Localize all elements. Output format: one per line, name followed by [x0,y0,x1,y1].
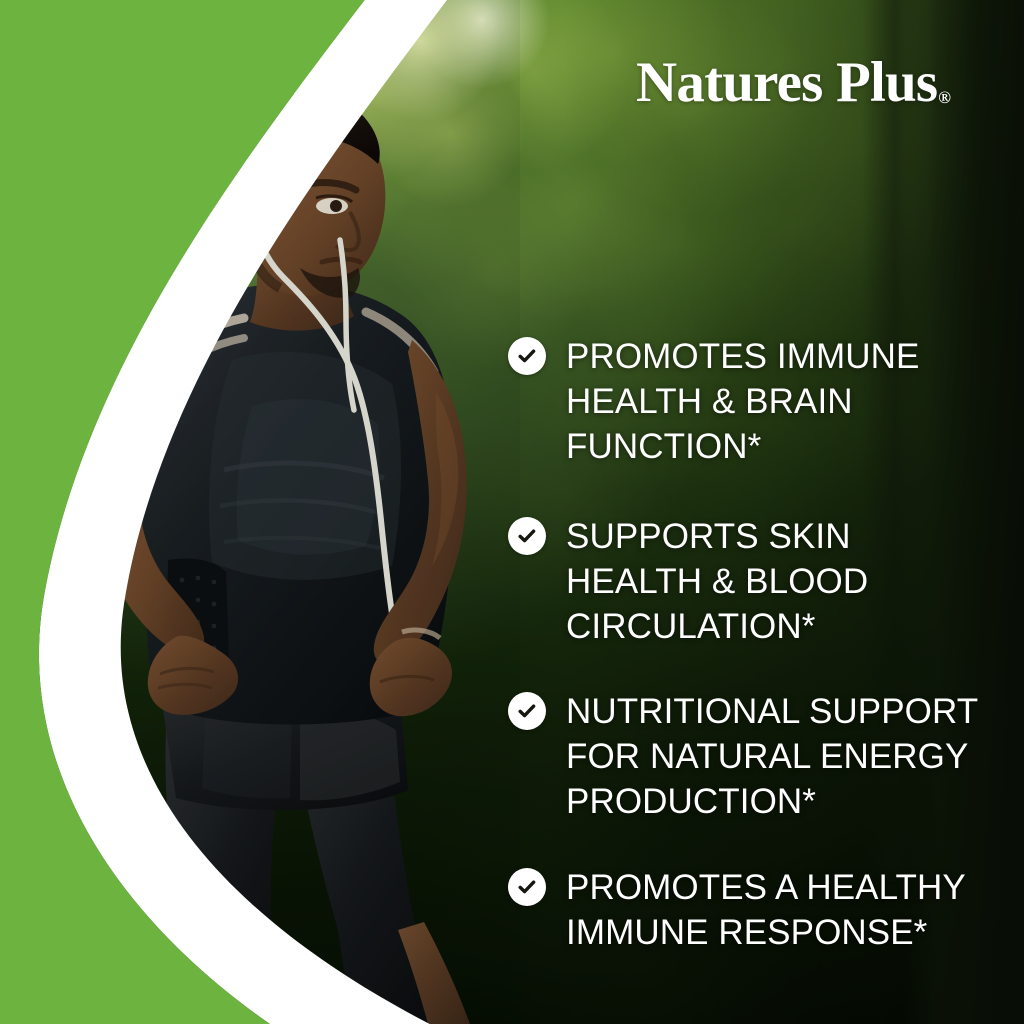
benefit-item: SUPPORTS SKIN HEALTH & BLOOD CIRCULATION… [508,514,996,649]
product-benefits-poster: Natures Plus® PROMOTES IMMUNE HEALTH & B… [0,0,1024,1024]
check-circle-icon [508,337,546,375]
check-circle-icon [508,517,546,555]
check-circle-icon [508,692,546,730]
check-circle-icon [508,868,546,906]
benefit-text: SUPPORTS SKIN HEALTH & BLOOD CIRCULATION… [566,514,996,649]
benefit-item: PROMOTES IMMUNE HEALTH & BRAIN FUNCTION* [508,334,996,469]
benefit-text: PROMOTES A HEALTHY IMMUNE RESPONSE* [566,865,996,955]
benefit-item: PROMOTES A HEALTHY IMMUNE RESPONSE* [508,865,996,955]
brand-logo-text: Natures Plus [636,51,937,114]
brand-logo: Natures Plus® [636,52,988,114]
registered-trademark-icon: ® [938,88,951,107]
benefit-text: NUTRITIONAL SUPPORT FOR NATURAL ENERGY P… [566,689,996,824]
benefit-text: PROMOTES IMMUNE HEALTH & BRAIN FUNCTION* [566,334,996,469]
benefit-item: NUTRITIONAL SUPPORT FOR NATURAL ENERGY P… [508,689,996,824]
